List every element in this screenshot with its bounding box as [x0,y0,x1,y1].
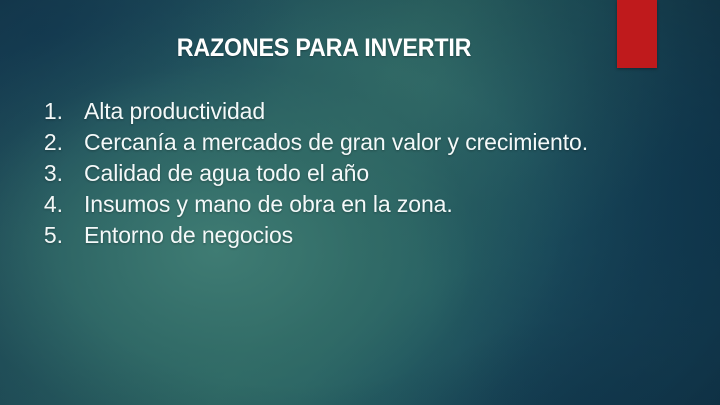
list-item-marker: 1. [0,96,84,127]
list-item-label: Calidad de agua todo el año [84,158,589,189]
list-item-label: Insumos y mano de obra en la zona. [84,189,589,220]
list-item: 1. Alta productividad [0,96,640,127]
numbered-list: 1. Alta productividad 2. Cercanía a merc… [0,96,640,251]
page-title: RAZONES PARA INVERTIR [23,34,626,63]
list-item-marker: 4. [0,189,84,220]
list-item-label: Alta productividad [84,96,589,127]
list-item-marker: 2. [0,127,84,158]
presentation-slide: RAZONES PARA INVERTIR 1. Alta productivi… [0,0,720,405]
list-item-label: Entorno de negocios [84,220,589,251]
list-item: 2. Cercanía a mercados de gran valor y c… [0,127,640,158]
list-item-label: Cercanía a mercados de gran valor y crec… [84,127,589,158]
list-item: 4. Insumos y mano de obra en la zona. [0,189,640,220]
list-item-marker: 3. [0,158,84,189]
list-item: 5. Entorno de negocios [0,220,640,251]
list-item: 3. Calidad de agua todo el año [0,158,640,189]
list-item-marker: 5. [0,220,84,251]
